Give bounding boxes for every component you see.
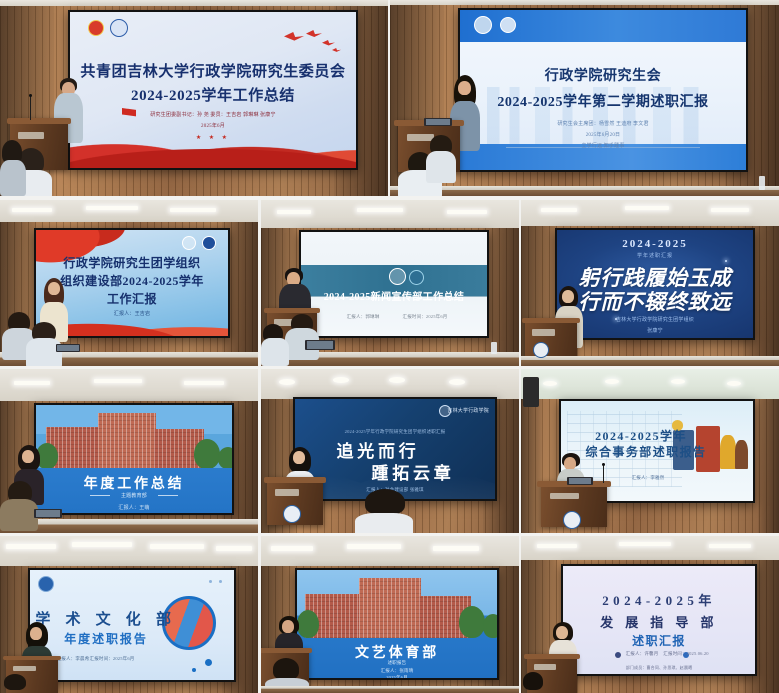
podium-emblem-icon [283, 505, 301, 523]
hair [273, 658, 299, 680]
panel-arts-sports-dept[interactable]: 文艺体育部 述职报告 汇报人：张雨晴 2025年6月 [261, 536, 519, 693]
head [48, 282, 60, 295]
podium-top [7, 118, 72, 124]
panel-calligraphy-blue-report[interactable]: 2024-2025 学年述职汇报 躬行践履始玉成 行而不辍终致远 吉林大学行政学… [521, 200, 779, 366]
laptop [305, 340, 335, 350]
torso [0, 499, 38, 531]
microphone-icon [603, 465, 604, 483]
slide-header: 2024-2025学年行政学院研究生团学组织述职汇报 [295, 429, 495, 435]
ceiling-light [625, 206, 669, 210]
front-desk [390, 186, 779, 196]
torso [26, 338, 62, 366]
podium-top [522, 318, 580, 323]
dove-icon [306, 30, 322, 39]
jlu-emblem-icon [202, 236, 216, 250]
podium-nameplate [13, 666, 36, 671]
podium-top [3, 656, 61, 660]
laptop [567, 477, 593, 485]
ceiling-light [449, 379, 465, 385]
laptop [34, 509, 62, 518]
ceiling-light [727, 381, 741, 386]
ceiling [521, 200, 779, 226]
slide-logo-text: 吉林大学行政学院 [383, 407, 489, 414]
slide-title-line1: 行政学院研究生会 [460, 65, 746, 85]
slide-title-line1: 行政学院研究生团学组织 [36, 254, 228, 271]
auditorium-room: 共青团吉林大学行政学院研究生委员会 2024-2025学年工作总结 研究生团委副… [0, 0, 388, 196]
ceiling-light [447, 210, 487, 214]
cyl-emblem-icon [88, 20, 104, 36]
auditorium-room: 吉林大学行政学院 2024-2025学年行政学院研究生团学组织述职汇报 追光而行… [261, 369, 519, 533]
slide-subtitle: 研究生会主席团：杨雪然 王迪府 李文君 [460, 120, 746, 127]
water-bottle [491, 342, 497, 354]
slide-title: 2024-2025新闻宣传部工作总结 [301, 288, 487, 303]
slide-stars: ★ ★ ★ [70, 134, 356, 141]
slide-9: 学 术 文 化 部 年度述职报告 汇报人：李晨希 汇报时间：2025年6月 [30, 570, 234, 680]
ceiling-light [619, 542, 671, 546]
auditorium-room: 2024-2025年 发 展 指 导 部 述职汇报 汇报人：许馨月 汇报时间：2… [521, 536, 779, 693]
slide-2: 行政学院研究生会 2024-2025学年第二学期述职汇报 研究生会主席团：杨雪然… [460, 10, 746, 170]
audience-person [0, 140, 26, 196]
ceiling-light [72, 542, 132, 547]
ceiling [0, 200, 258, 222]
podium-nameplate [550, 493, 579, 499]
ceiling-light [216, 546, 252, 551]
ceiling-light [279, 379, 295, 385]
ceiling-light [277, 210, 311, 214]
campus-photo [297, 570, 497, 635]
slide-7: 吉林大学行政学院 2024-2025学年行政学院研究生团学组织述职汇报 追光而行… [295, 399, 495, 499]
ceiling-light [389, 377, 405, 383]
ceiling-light [12, 208, 52, 212]
dove-icon [332, 48, 341, 53]
projection-screen[interactable]: 行政学院研究生会 2024-2025学年第二学期述职汇报 研究生会主席团：杨雪然… [458, 8, 748, 172]
presentation-collage: 共青团吉林大学行政学院研究生委员会 2024-2025学年工作总结 研究生团委副… [0, 0, 779, 693]
torso [261, 338, 289, 366]
ceiling-light [605, 379, 619, 384]
ceiling-light [333, 377, 349, 383]
panel-organization-construction-dept[interactable]: 行政学院研究生团学组织 组织建设部2024-2025学年 工作汇报 汇报人：王吉… [0, 200, 258, 366]
slide-presenter: 汇报人：张雨晴 [297, 668, 497, 674]
slide-title-line2: 发 展 指 导 部 [563, 612, 755, 631]
slide-title-line1: 共青团吉林大学行政学院研究生委员会 [70, 60, 356, 81]
projection-screen[interactable]: 共青团吉林大学行政学院研究生委员会 2024-2025学年工作总结 研究生团委副… [68, 10, 358, 170]
front-desk [261, 686, 519, 693]
head [556, 626, 568, 639]
torso [0, 160, 26, 196]
auditorium-room: 学 术 文 化 部 年度述职报告 汇报人：李晨希 汇报时间：2025年6月 [0, 536, 258, 693]
ceiling-light [271, 546, 313, 551]
podium-nameplate [532, 329, 555, 335]
ceiling-light [94, 379, 142, 383]
slide-title-line2: 踵拓云章 [331, 459, 495, 484]
ceiling-light [14, 381, 50, 385]
ceiling-light [6, 544, 56, 549]
podium-nameplate [534, 664, 556, 669]
ceiling [261, 369, 519, 399]
head [458, 81, 471, 95]
slide-subtitle: 研究生团委副书记：孙 尧 委员：王吉岩 郭琳琳 张康宁 [70, 111, 356, 118]
ceiling-light [184, 381, 224, 385]
audience-person [0, 674, 34, 693]
auditorium-room: 2024-2025新闻宣传部工作总结 汇报人：郭琳琳 汇报时间：2025年6月 [261, 200, 519, 366]
auditorium-room: 2024-2025 学年述职汇报 躬行践履始玉成 行而不辍终致远 吉林大学行政学… [521, 200, 779, 366]
decor-dot [209, 580, 212, 583]
microphone-icon [30, 96, 31, 120]
ceiling [0, 369, 258, 401]
projection-screen[interactable]: 2024-2025年 发 展 指 导 部 述职汇报 汇报人：许馨月 汇报时间：2… [561, 564, 757, 676]
tree [218, 447, 232, 468]
laptop [424, 118, 452, 126]
head [22, 450, 34, 463]
projection-screen[interactable]: 文艺体育部 述职报告 汇报人：张雨晴 2025年6月 [295, 568, 499, 680]
tree [194, 439, 220, 468]
torso [426, 151, 456, 183]
tree [459, 606, 485, 638]
projection-screen[interactable]: 2024-2025新闻宣传部工作总结 汇报人：郭琳琳 汇报时间：2025年6月 [299, 230, 489, 338]
ceiling-light [671, 379, 685, 384]
podium-top [264, 477, 327, 483]
laptop [56, 344, 80, 352]
slide-subtitle: 主题教育部 [36, 492, 232, 499]
torso [355, 513, 413, 533]
head [293, 451, 305, 464]
slide-meta-right: 汇报时间：2025年6月 [363, 314, 487, 320]
slide-title-line1: 2024-2025年 [563, 590, 755, 609]
audience-person [285, 314, 319, 360]
building-center [98, 413, 156, 468]
slide-date: 2025年6月 [70, 122, 356, 129]
slide-footer: 立学行远 知乎踵事 [460, 142, 746, 149]
projection-screen[interactable]: 2024-2025 学年述职汇报 躬行践履始玉成 行而不辍终致远 吉林大学行政学… [555, 228, 755, 340]
panel-graduate-union-semester-report[interactable]: 行政学院研究生会 2024-2025学年第二学期述职汇报 研究生会主席团：杨雪然… [390, 0, 779, 196]
dove-graphic-group [284, 30, 344, 56]
wall-shadow-right [758, 399, 779, 533]
ceiling-light [357, 208, 403, 212]
ceiling-light [541, 208, 577, 212]
audience-person [0, 481, 38, 529]
hair [365, 489, 405, 515]
school-emblem-icon [182, 236, 196, 250]
school-emblem-icon [500, 17, 516, 33]
audience-person [261, 324, 289, 366]
dove-icon [322, 40, 335, 47]
podium-top [524, 654, 580, 659]
slide-title-line3: 述职汇报 [563, 632, 755, 649]
auditorium-room: 行政学院研究生会 2024-2025学年第二学期述职汇报 研究生会主席团：杨雪然… [390, 0, 779, 196]
slide-title-line2: 年度述职报告 [30, 630, 234, 647]
jlu-emblem-icon [389, 268, 406, 285]
tree [483, 614, 497, 638]
panel-chasing-light[interactable]: 吉林大学行政学院 2024-2025学年行政学院研究生团学组织述职汇报 追光而行… [261, 369, 519, 533]
panel-development-guidance-dept[interactable]: 2024-2025年 发 展 指 导 部 述职汇报 汇报人：许馨月 汇报时间：2… [521, 536, 779, 693]
slide-year: 2024-2025 [557, 238, 753, 250]
speaker-box [523, 377, 539, 407]
podium-top [261, 648, 312, 653]
audience-person [355, 489, 413, 533]
panel-jlu-graduate-committee[interactable]: 共青团吉林大学行政学院研究生委员会 2024-2025学年工作总结 研究生团委副… [0, 0, 388, 196]
head [30, 627, 42, 640]
ceiling [261, 200, 519, 228]
slide-10: 文艺体育部 述职报告 汇报人：张雨晴 2025年6月 [297, 570, 497, 678]
slide-6: 年度工作总结 主题教育部 汇报人：王萌 [36, 405, 232, 513]
podium-nameplate [18, 132, 44, 139]
audience-person [521, 672, 547, 693]
ceiling [521, 369, 779, 399]
ceiling-light [86, 206, 138, 210]
dove-icon [284, 32, 304, 43]
hair [523, 672, 543, 690]
slide-4: 2024-2025新闻宣传部工作总结 汇报人：郭琳琳 汇报时间：2025年6月 [301, 232, 487, 336]
projection-screen[interactable]: 吉林大学行政学院 2024-2025学年行政学院研究生团学组织述职汇报 追光而行… [293, 397, 497, 501]
slide-title-line2: 2024-2025学年第二学期述职汇报 [460, 91, 746, 111]
ceiling-light [150, 544, 204, 549]
building-center [359, 578, 421, 638]
slide-1: 共青团吉林大学行政学院研究生委员会 2024-2025学年工作总结 研究生团委副… [70, 12, 356, 168]
ceiling-light [711, 208, 749, 212]
slide-title: 年度工作总结 [36, 473, 232, 493]
panel-general-affairs-dept[interactable]: 2024-2025学年 综合事务部述职报告 汇报人：李雅然 [521, 369, 779, 533]
head [562, 290, 574, 303]
podium-top [264, 308, 320, 313]
ceiling-light [433, 546, 479, 551]
ceiling [0, 536, 258, 566]
panel-annual-work-summary[interactable]: 年度工作总结 主题教育部 汇报人：王萌 [0, 369, 258, 533]
ceiling-light [170, 208, 216, 212]
slide-title-line2: 2024-2025学年工作总结 [70, 84, 356, 105]
panel-news-publicity-dept[interactable]: 2024-2025新闻宣传部工作总结 汇报人：郭琳琳 汇报时间：2025年6月 [261, 200, 519, 366]
auditorium-room: 文艺体育部 述职报告 汇报人：张雨晴 2025年6月 [261, 536, 519, 693]
school-emblem-icon [409, 270, 424, 285]
slide-11: 2024-2025年 发 展 指 导 部 述职汇报 汇报人：许馨月 汇报时间：2… [563, 566, 755, 674]
audience-person [426, 135, 456, 183]
slide-5: 2024-2025 学年述职汇报 躬行践履始玉成 行而不辍终致远 吉林大学行政学… [557, 230, 753, 338]
slide-title-line1: 学 术 文 化 部 [30, 608, 234, 629]
slide-presenter: 张康宁 [557, 327, 753, 334]
podium-nameplate [275, 489, 300, 496]
podium-emblem-icon [533, 342, 549, 358]
slide-title-line2: 综合事务部述职报告 [561, 443, 753, 460]
ceiling-light [537, 544, 577, 548]
hair [4, 674, 26, 690]
slide-subtitle: 述职报告 [297, 660, 497, 666]
ceiling-light [543, 381, 557, 386]
jlu-emblem-icon [110, 19, 128, 37]
decor-dot [192, 668, 196, 672]
auditorium-room: 2024-2025学年 综合事务部述职报告 汇报人：李雅然 [521, 369, 779, 533]
slide-title-line1: 2024-2025学年 [561, 427, 753, 444]
slide-title: 文艺体育部 [297, 642, 497, 662]
slide-subtitle: 吉林大学行政学院研究生团学组织 [557, 316, 753, 323]
front-desk [521, 356, 779, 366]
slide-title-line2: 行而不辍终致远 [557, 286, 753, 316]
front-desk [0, 519, 258, 533]
slide-year-subtitle: 学年述职汇报 [557, 252, 753, 259]
decor-dot [219, 580, 222, 583]
panel-academic-culture-dept[interactable]: 学 术 文 化 部 年度述职报告 汇报人：李晨希 汇报时间：2025年6月 [0, 536, 258, 693]
podium-emblem-icon [563, 511, 581, 529]
slide-meta-right: 汇报时间：2025.06.20 [617, 651, 755, 657]
head [282, 620, 294, 633]
ceiling-light [347, 544, 401, 549]
wall-shadow-left [521, 399, 542, 533]
water-bottle [759, 176, 765, 190]
ceiling-light [709, 544, 751, 548]
jlu-emblem-icon [474, 16, 492, 34]
auditorium-room: 年度工作总结 主题教育部 汇报人：王萌 [0, 369, 258, 533]
slide-presenter: 汇报人：王萌 [36, 504, 232, 511]
slide-date: 2025年6月 [297, 675, 497, 678]
projection-screen[interactable]: 学 术 文 化 部 年度述职报告 汇报人：李晨希 汇报时间：2025年6月 [28, 568, 236, 682]
campus-photo [36, 405, 232, 468]
ceiling [261, 536, 519, 566]
projection-screen[interactable]: 年度工作总结 主题教育部 汇报人：王萌 [34, 403, 234, 515]
jlu-emblem-icon [38, 576, 54, 592]
slide-date: 2025年6月20日 [460, 131, 746, 138]
auditorium-room: 行政学院研究生团学组织 组织建设部2024-2025学年 工作汇报 汇报人：王吉… [0, 200, 258, 366]
ceiling [521, 536, 779, 560]
slide-footer: 部门成员：曹合同、孙思琪、赵晨曦 [563, 665, 755, 671]
